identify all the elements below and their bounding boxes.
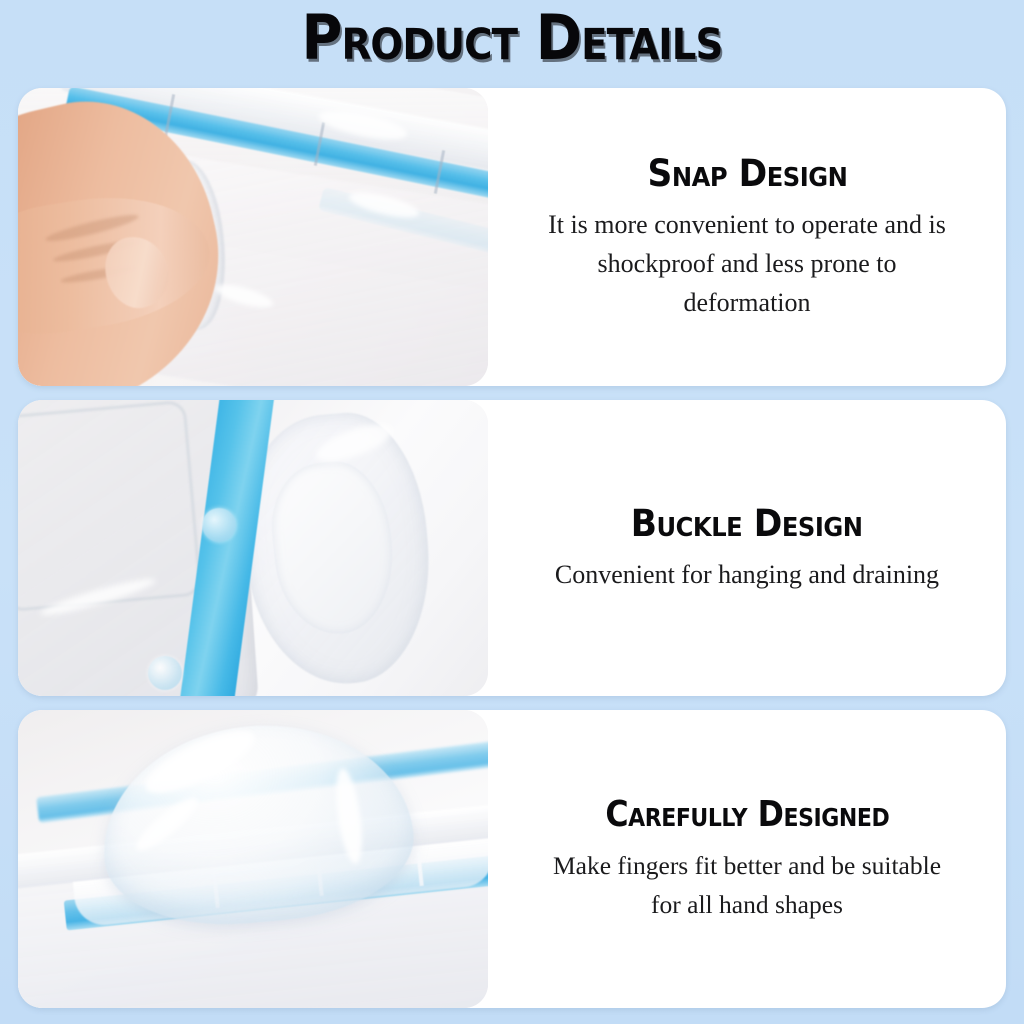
feature-card-carefully-designed: Carefully Designed Make fingers fit bett…: [18, 710, 1006, 1008]
feature-card-buckle-design: Buckle Design Convenient for hanging and…: [18, 400, 1006, 696]
buckle-pivot-bottom: [148, 656, 182, 690]
feature-heading: Carefully Designed: [605, 794, 889, 836]
feature-photo-carefully-designed: [18, 710, 488, 1008]
feature-heading: Buckle Design: [631, 503, 863, 545]
feature-text-snap-design: Snap Design It is more convenient to ope…: [488, 88, 1006, 386]
feature-photo-snap-design: [18, 88, 488, 386]
buckle-pivot-top: [202, 508, 236, 542]
feature-text-carefully-designed: Carefully Designed Make fingers fit bett…: [488, 710, 1006, 1008]
feature-description: It is more convenient to operate and is …: [532, 205, 962, 322]
page-title: Product Details: [51, 6, 973, 70]
feature-text-buckle-design: Buckle Design Convenient for hanging and…: [488, 400, 1006, 696]
feature-heading: Snap Design: [647, 153, 847, 195]
feature-card-snap-design: Snap Design It is more convenient to ope…: [18, 88, 1006, 386]
feature-description: Make fingers fit better and be suitable …: [542, 846, 952, 924]
product-details-infographic: Product Details Snap Design It: [0, 0, 1024, 1024]
feature-photo-buckle-design: [18, 400, 488, 696]
feature-description: Convenient for hanging and draining: [555, 555, 939, 594]
container-recess-outline: [18, 400, 202, 612]
